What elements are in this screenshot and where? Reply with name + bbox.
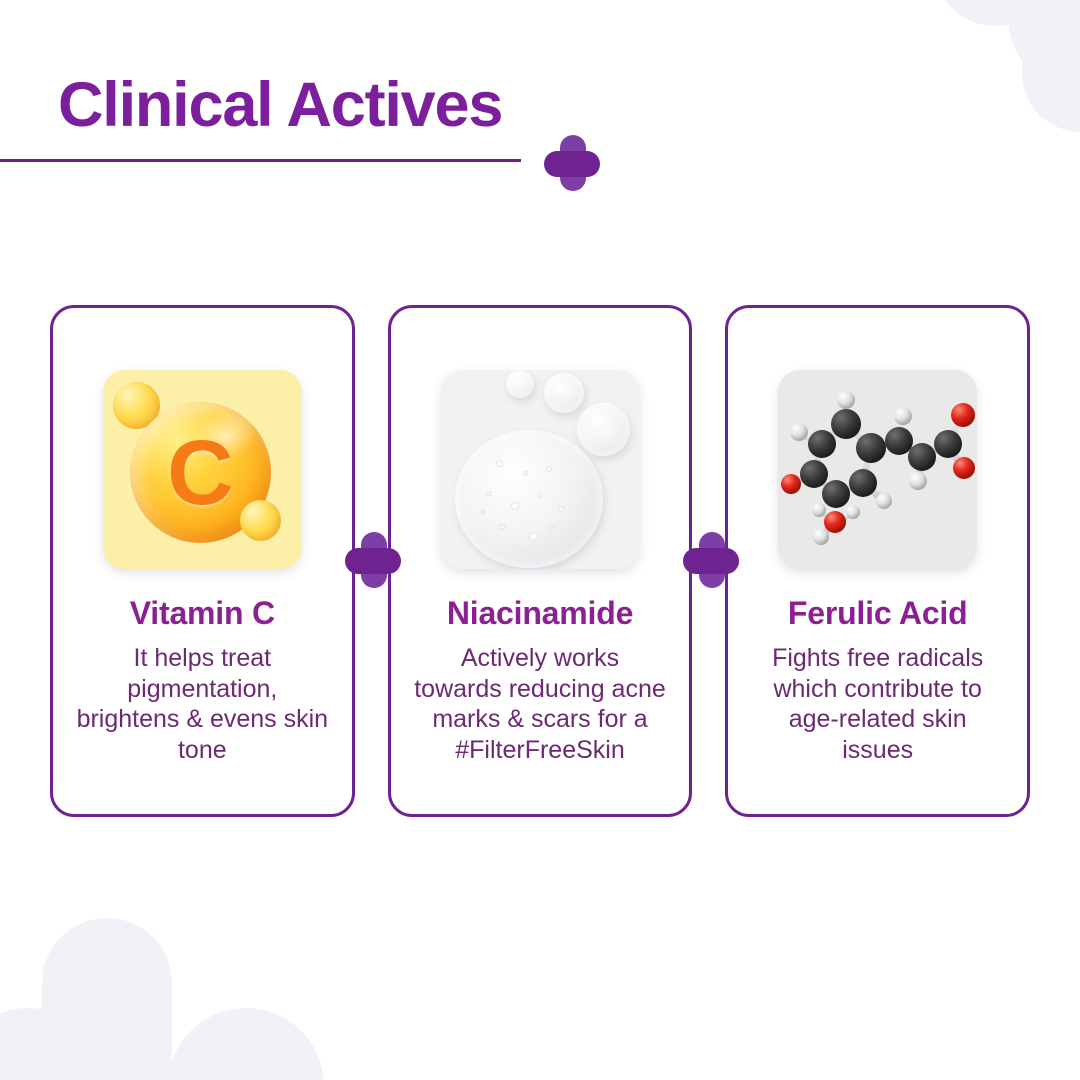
card-description: Actively works towards reducing acne mar… [414,643,666,765]
plus-cross-horizontal-bar [345,548,401,574]
vitamin-c-sphere-icon: C [103,370,302,569]
plus-cross-horizontal-bar [544,151,600,177]
ingredient-card-row: C Vitamin C It helps treat pigmentation,… [50,305,1030,817]
ingredient-card-vitamin-c[interactable]: C Vitamin C It helps treat pigmentation,… [50,305,355,817]
plus-cross-icon [544,135,600,191]
vitamin-c-bubble-small-bottom [240,500,281,541]
gel-micro-bubble [523,471,528,476]
gel-droplet-medium [577,403,630,456]
gel-micro-bubble [511,502,519,510]
card-title: Ferulic Acid [788,597,968,629]
plus-cross-horizontal-bar [683,548,739,574]
gel-micro-bubble [546,466,552,472]
card-description: Fights free radicals which contribute to… [752,643,1004,765]
gel-micro-bubble [558,506,564,512]
gel-micro-bubble [487,491,492,496]
gel-micro-bubble [481,510,485,514]
decorative-blob-bottom-left-c [168,1008,324,1080]
gel-micro-bubble [549,524,554,529]
gel-droplet-small-a [506,370,534,398]
gel-droplet-large [455,430,603,568]
card-description: It helps treat pigmentation, brightens &… [76,643,328,765]
gel-micro-bubble [537,493,542,498]
gel-droplet-small-b [544,373,584,413]
molecule-ball-and-stick-icon [778,370,977,569]
gel-micro-bubble [496,460,503,467]
gel-micro-bubble [529,532,538,541]
infographic-canvas: Clinical Actives C Vitamin C It helps tr… [0,0,1080,1080]
ingredient-card-ferulic-acid[interactable]: Ferulic Acid Fights free radicals which … [725,305,1030,817]
gel-micro-bubble [517,546,522,551]
serum-gel-droplets-icon [441,370,640,569]
molecule-diagram [778,370,977,569]
ingredient-card-niacinamide[interactable]: Niacinamide Actively works towards reduc… [388,305,693,817]
title-underline-rule [0,159,521,162]
page-title: Clinical Actives [58,74,502,137]
plus-cross-icon-between-card-2-and-3 [683,532,739,588]
gel-micro-bubble [499,524,505,530]
card-title: Niacinamide [447,597,633,629]
card-title: Vitamin C [130,597,275,629]
plus-cross-icon-between-card-1-and-2 [345,532,401,588]
